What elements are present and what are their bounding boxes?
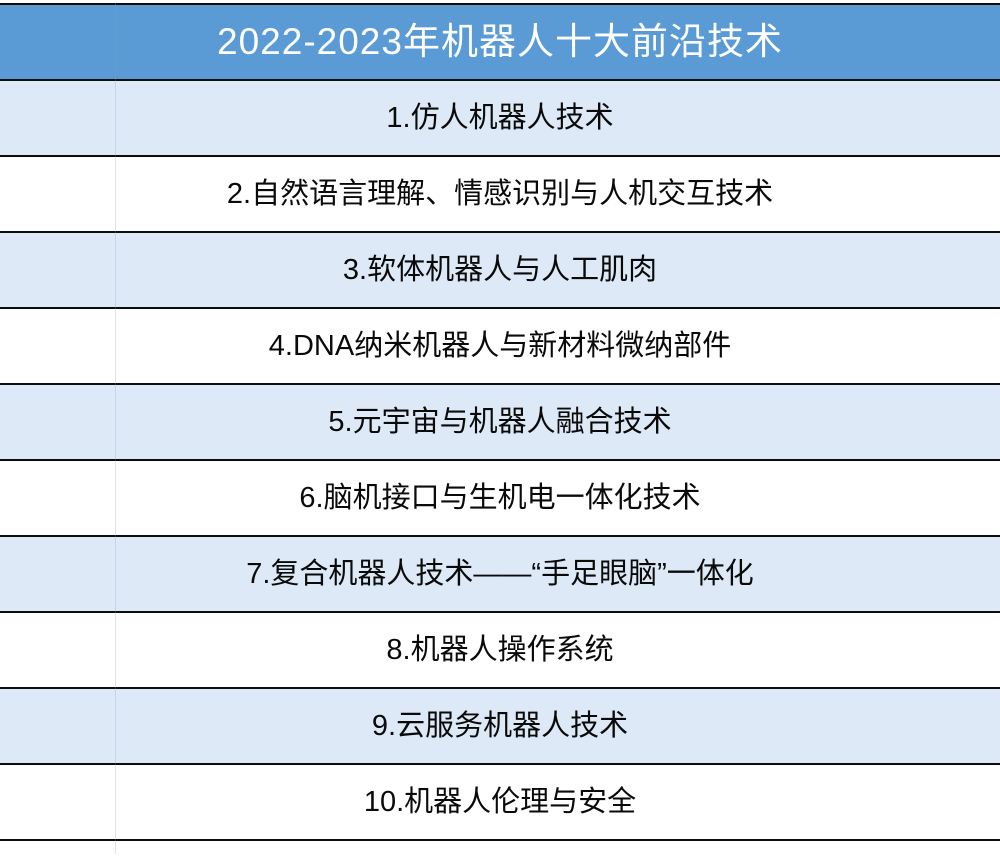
table-row: 10.机器人伦理与安全: [0, 764, 1000, 840]
table-row: 6.脑机接口与生机电一体化技术: [0, 460, 1000, 536]
technology-item-9: 9.云服务机器人技术: [0, 688, 1000, 764]
technology-item-8: 8.机器人操作系统: [0, 612, 1000, 688]
technology-item-2: 2.自然语言理解、情感识别与人机交互技术: [0, 156, 1000, 232]
table-header: 2022-2023年机器人十大前沿技术: [0, 4, 1000, 80]
technology-item-5: 5.元宇宙与机器人融合技术: [0, 384, 1000, 460]
table-row: 5.元宇宙与机器人融合技术: [0, 384, 1000, 460]
table-container: 2022-2023年机器人十大前沿技术 1.仿人机器人技术 2.自然语言理解、情…: [0, 0, 1000, 860]
technology-item-3: 3.软体机器人与人工肌肉: [0, 232, 1000, 308]
top-ten-technologies-table: 2022-2023年机器人十大前沿技术 1.仿人机器人技术 2.自然语言理解、情…: [0, 3, 1000, 841]
technology-item-4: 4.DNA纳米机器人与新材料微纳部件: [0, 308, 1000, 384]
technology-item-6: 6.脑机接口与生机电一体化技术: [0, 460, 1000, 536]
table-row: 2.自然语言理解、情感识别与人机交互技术: [0, 156, 1000, 232]
table-header-row: 2022-2023年机器人十大前沿技术: [0, 4, 1000, 80]
table-body: 1.仿人机器人技术 2.自然语言理解、情感识别与人机交互技术 3.软体机器人与人…: [0, 80, 1000, 840]
technology-item-7: 7.复合机器人技术——“手足眼脑”一体化: [0, 536, 1000, 612]
table-row: 9.云服务机器人技术: [0, 688, 1000, 764]
table-row: 7.复合机器人技术——“手足眼脑”一体化: [0, 536, 1000, 612]
table-title: 2022-2023年机器人十大前沿技术: [0, 4, 1000, 80]
table-row: 1.仿人机器人技术: [0, 80, 1000, 156]
table-row: 3.软体机器人与人工肌肉: [0, 232, 1000, 308]
technology-item-1: 1.仿人机器人技术: [0, 80, 1000, 156]
table-row: 4.DNA纳米机器人与新材料微纳部件: [0, 308, 1000, 384]
technology-item-10: 10.机器人伦理与安全: [0, 764, 1000, 840]
table-row: 8.机器人操作系统: [0, 612, 1000, 688]
